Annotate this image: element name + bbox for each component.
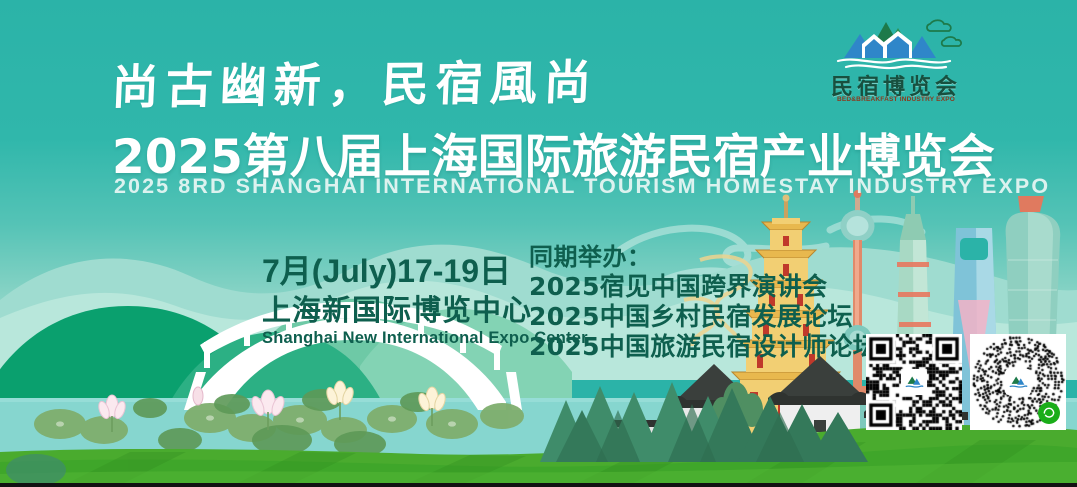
- left-bush: [6, 454, 66, 486]
- qr-code-circular[interactable]: [970, 334, 1066, 430]
- concurrent-events-heading: 同期举办：: [529, 243, 878, 272]
- calligraphy-slogan: 尚古幽新，民宿風尚: [110, 43, 599, 117]
- expo-logo[interactable]: 民宿博览会 BED&BREAKFAST INDUSTRY EXPO: [812, 14, 980, 109]
- concurrent-event-item: 2025宿见中国跨界演讲会: [529, 272, 878, 302]
- page-subtitle: 2025 8RD SHANGHAI INTERNATIONAL TOURISM …: [114, 174, 1050, 199]
- expo-logo-icon: [1007, 371, 1029, 393]
- qr-code-square[interactable]: [866, 334, 962, 430]
- mountain-house-lake-logo-icon: [820, 14, 970, 72]
- logo-name-en: BED&BREAKFAST INDUSTRY EXPO: [812, 96, 980, 103]
- qr-center-logo: [1005, 369, 1031, 395]
- qr-code-group: [866, 334, 1066, 430]
- concurrent-events-block: 同期举办： 2025宿见中国跨界演讲会 2025中国乡村民宿发展论坛 2025中…: [529, 243, 878, 362]
- expo-banner: 尚古幽新，民宿風尚 2025第八届上海国际旅游民宿产业博览会 2025 8RD …: [0, 0, 1077, 487]
- qr-center-logo: [901, 369, 927, 395]
- wechat-miniprogram-icon: [1038, 402, 1060, 424]
- concurrent-event-item: 2025中国旅游民宿设计师论坛: [529, 332, 878, 362]
- concurrent-event-item: 2025中国乡村民宿发展论坛: [529, 302, 878, 332]
- expo-logo-icon: [903, 371, 925, 393]
